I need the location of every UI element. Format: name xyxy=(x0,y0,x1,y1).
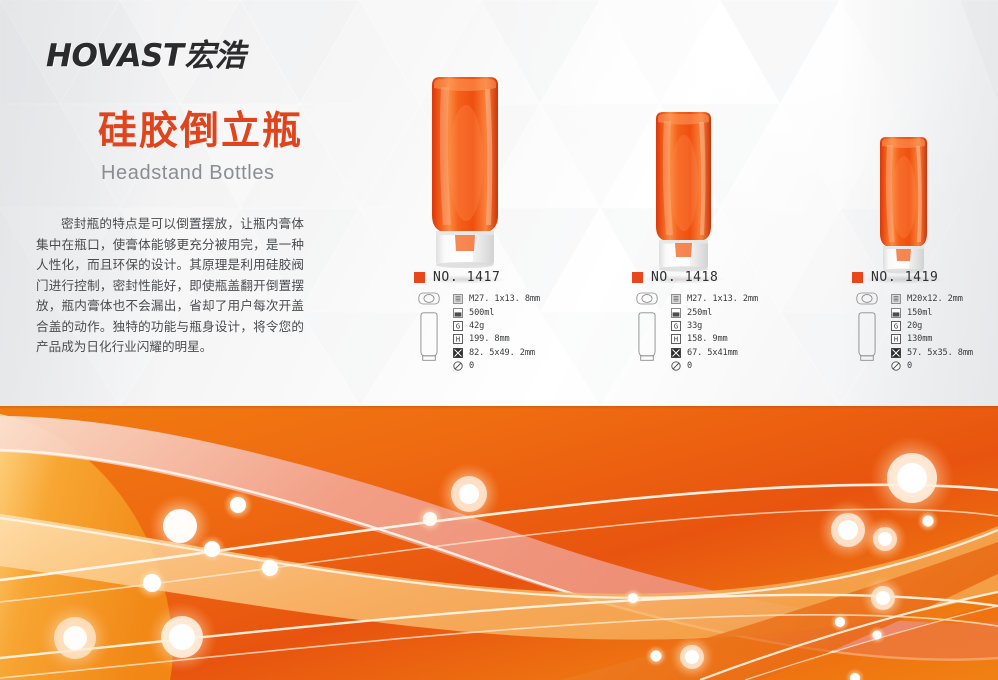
headstand-bottle-icon xyxy=(863,135,943,280)
diameter-icon xyxy=(453,361,463,371)
neck-thread-icon xyxy=(453,294,463,304)
bottle-top-view-icon xyxy=(418,292,440,305)
spec-row: G 33g xyxy=(671,320,758,332)
product-number-label: NO. 1418 xyxy=(651,270,718,285)
spec-value: 0 xyxy=(907,361,912,371)
bullet-square-icon xyxy=(414,272,425,283)
top-white-section: HOVAST 宏浩 硅胶倒立瓶 Headstand Bottles 密封瓶的特点… xyxy=(0,0,998,406)
spec-row: G 42g xyxy=(453,320,540,332)
spec-value: 0 xyxy=(469,361,474,371)
bottle-top-view-icon xyxy=(856,292,878,305)
spec-value: 82. 5x49. 2mm xyxy=(469,348,535,358)
height-icon: H xyxy=(891,334,901,344)
product-thumbnails xyxy=(632,292,662,372)
spec-row: M27. 1x13. 8mm xyxy=(453,293,540,305)
capacity-icon xyxy=(453,308,463,318)
spec-value: 500ml xyxy=(469,308,494,318)
spec-value: 33g xyxy=(687,321,702,331)
product-thumbnails xyxy=(852,292,882,372)
svg-text:H: H xyxy=(674,336,678,344)
spec-row: M20x12. 2mm xyxy=(891,293,973,305)
weight-icon: G xyxy=(891,321,901,331)
spec-value: M27. 1x13. 2mm xyxy=(687,294,758,304)
spec-value: M20x12. 2mm xyxy=(907,294,963,304)
spec-value: 158. 9mm xyxy=(687,334,728,344)
banner-top-edge xyxy=(0,406,998,409)
spec-row: 57. 5x35. 8mm xyxy=(891,347,973,359)
spec-value: 67. 5x41mm xyxy=(687,348,738,358)
spec-row: 0 xyxy=(453,360,540,372)
brand-logo: HOVAST 宏浩 xyxy=(46,30,245,75)
spec-row: H 199. 8mm xyxy=(453,333,540,345)
product-thumbnails xyxy=(414,292,444,372)
svg-text:H: H xyxy=(456,336,460,344)
height-icon: H xyxy=(671,334,681,344)
spec-row: 67. 5x41mm xyxy=(671,347,758,359)
product-number-label: NO. 1417 xyxy=(433,270,500,285)
spec-row: H 130mm xyxy=(891,333,973,345)
spec-value: 42g xyxy=(469,321,484,331)
spec-value: 20g xyxy=(907,321,922,331)
product-number-row-3: NO. 1419 xyxy=(852,270,938,285)
spec-value: M27. 1x13. 8mm xyxy=(469,294,540,304)
spec-row: M27. 1x13. 2mm xyxy=(671,293,758,305)
bottle-side-view-icon xyxy=(854,311,880,363)
spec-value: 0 xyxy=(687,361,692,371)
product-image-2 xyxy=(578,70,788,280)
weight-icon: G xyxy=(671,321,681,331)
bullet-square-icon xyxy=(852,272,863,283)
orange-wave-graphic xyxy=(0,406,998,680)
svg-text:G: G xyxy=(674,323,678,331)
spec-value: 199. 8mm xyxy=(469,334,510,344)
spec-block-2: M27. 1x13. 2mm 250ml G xyxy=(632,292,758,372)
svg-text:H: H xyxy=(894,336,898,344)
brand-name-cn: 宏浩 xyxy=(185,30,245,75)
spec-value: 57. 5x35. 8mm xyxy=(907,348,973,358)
catalog-page: HOVAST 宏浩 硅胶倒立瓶 Headstand Bottles 密封瓶的特点… xyxy=(0,0,998,680)
diameter-icon xyxy=(891,361,901,371)
spec-rows: M20x12. 2mm 150ml G 2 xyxy=(891,292,973,372)
spec-row: 500ml xyxy=(453,306,540,318)
product-number-label: NO. 1419 xyxy=(871,270,938,285)
product-number-row-1: NO. 1417 xyxy=(414,270,500,285)
spec-rows: M27. 1x13. 8mm 500ml G xyxy=(453,292,540,372)
product-image-1 xyxy=(360,70,570,280)
capacity-icon xyxy=(891,308,901,318)
page-title-en: Headstand Bottles xyxy=(101,162,275,185)
product-card-2[interactable]: NO. 1418 xyxy=(578,70,788,390)
bullet-square-icon xyxy=(632,272,643,283)
product-image-3 xyxy=(798,70,998,280)
neck-thread-icon xyxy=(671,294,681,304)
description-paragraph: 密封瓶的特点是可以倒置摆放，让瓶内膏体集中在瓶口，使膏体能够更充分被用完，是一种… xyxy=(36,214,304,358)
product-number-row-2: NO. 1418 xyxy=(632,270,718,285)
dimension-icon xyxy=(671,348,681,358)
page-title-cn: 硅胶倒立瓶 xyxy=(98,112,303,151)
spec-row: H 158. 9mm xyxy=(671,333,758,345)
dimension-icon xyxy=(891,348,901,358)
dimension-icon xyxy=(453,348,463,358)
diameter-icon xyxy=(671,361,681,371)
svg-text:G: G xyxy=(456,323,460,331)
weight-icon: G xyxy=(453,321,463,331)
bottom-orange-banner xyxy=(0,406,998,680)
spec-value: 250ml xyxy=(687,308,712,318)
spec-rows: M27. 1x13. 2mm 250ml G xyxy=(671,292,758,372)
bottle-top-view-icon xyxy=(636,292,658,305)
product-card-1[interactable]: NO. 1417 xyxy=(360,70,570,390)
spec-row: 0 xyxy=(671,360,758,372)
svg-text:G: G xyxy=(894,323,898,331)
capacity-icon xyxy=(671,308,681,318)
spec-value: 150ml xyxy=(907,308,932,318)
spec-row: 250ml xyxy=(671,306,758,318)
headstand-bottle-icon xyxy=(637,110,729,280)
spec-block-3: M20x12. 2mm 150ml G 2 xyxy=(852,292,973,372)
headstand-bottle-icon xyxy=(410,75,520,280)
spec-row: 0 xyxy=(891,360,973,372)
brand-name-en: HOVAST xyxy=(46,38,184,74)
bottle-side-view-icon xyxy=(634,311,660,363)
spec-value: 130mm xyxy=(907,334,932,344)
product-card-3[interactable]: NO. 1419 xyxy=(798,70,998,390)
height-icon: H xyxy=(453,334,463,344)
neck-thread-icon xyxy=(891,294,901,304)
spec-row: 82. 5x49. 2mm xyxy=(453,347,540,359)
spec-row: 150ml xyxy=(891,306,973,318)
spec-row: G 20g xyxy=(891,320,973,332)
bottle-side-view-icon xyxy=(416,311,442,363)
spec-block-1: M27. 1x13. 8mm 500ml G xyxy=(414,292,540,372)
